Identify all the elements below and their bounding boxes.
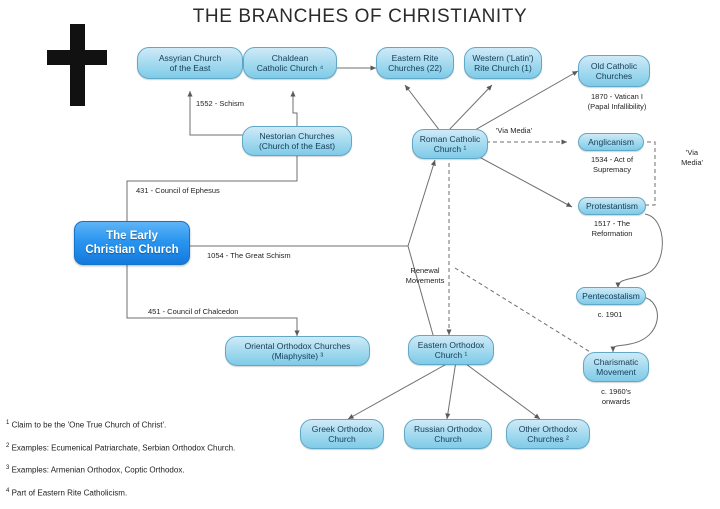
node-label-line1: Protestantism xyxy=(586,201,638,212)
node-label-line1: Roman Catholic xyxy=(420,134,480,145)
node-label-line2: of the East xyxy=(159,63,221,74)
node-protestantism[interactable]: Protestantism xyxy=(578,197,646,215)
edge-fork-eastern-orthodox xyxy=(408,246,435,342)
node-label-line1: Eastern Rite xyxy=(388,53,442,64)
footnote-marker: 3 xyxy=(6,465,9,471)
edge-early-oriental xyxy=(127,265,297,336)
label-line1: 'Via xyxy=(686,148,698,157)
edge-eo-greek xyxy=(348,361,452,419)
footnote-marker: 4 xyxy=(6,488,9,494)
edge-pentecostalism-charismatic xyxy=(613,297,657,352)
label-line2: Media' xyxy=(681,158,703,167)
label-1054-great-schism: 1054 - The Great Schism xyxy=(207,251,291,261)
node-oriental-orthodox-churches[interactable]: Oriental Orthodox Churches (Miaphysite) … xyxy=(225,336,370,366)
footnote-marker: 2 xyxy=(6,443,9,449)
node-label-line1: Nestorian Churches xyxy=(259,131,335,142)
label-line2: Reformation xyxy=(592,229,633,238)
edge-roman-old-catholic xyxy=(468,71,578,134)
node-label-line2: Catholic Church ⁴ xyxy=(257,63,324,74)
label-431-council-of-ephesus: 431 - Council of Ephesus xyxy=(136,186,220,196)
node-label-line2: Churches (22) xyxy=(388,63,442,74)
node-label-line1: Oriental Orthodox Churches xyxy=(245,341,351,352)
edge-eo-other xyxy=(462,361,540,419)
label-line1: Renewal xyxy=(410,266,439,275)
node-label-line2: Church ¹ xyxy=(418,350,485,361)
label-line2: onwards xyxy=(602,397,630,406)
edge-nestorian-chaldean xyxy=(293,91,297,126)
label-pentecostalism-date: c. 1901 xyxy=(566,310,654,320)
label-1517-reformation: 1517 - The Reformation xyxy=(568,219,656,238)
node-other-orthodox-churches[interactable]: Other Orthodox Churches ² xyxy=(506,419,590,449)
node-label-line1: Chaldean xyxy=(257,53,324,64)
node-the-early-christian-church[interactable]: The Early Christian Church xyxy=(74,221,190,265)
label-line1: c. 1960's xyxy=(601,387,631,396)
label-via-media-right: 'Via Media' xyxy=(672,148,712,167)
footnote-marker: 1 xyxy=(6,420,9,426)
label-via-media-left: 'Via Media' xyxy=(496,126,532,136)
footnote-3: 3 Examples: Armenian Orthodox, Coptic Or… xyxy=(6,463,436,476)
footnote-2: 2 Examples: Ecumenical Patriarchate, Ser… xyxy=(6,441,436,454)
node-label-line2: Churches xyxy=(591,71,637,82)
footnote-1: 1 Claim to be the 'One True Church of Ch… xyxy=(6,418,436,431)
label-charismatic-date: c. 1960's onwards xyxy=(572,387,660,406)
footnote-text: Examples: Ecumenical Patriarchate, Serbi… xyxy=(12,443,236,452)
edge-fork-roman xyxy=(408,160,435,246)
edge-roman-protestantism xyxy=(470,152,572,207)
node-charismatic-movement[interactable]: Charismatic Movement xyxy=(583,352,649,382)
label-1870-vatican-i: 1870 - Vatican I (Papal Infallibility) xyxy=(574,92,660,111)
label-1534-act-of-supremacy: 1534 - Act of Supremacy xyxy=(568,155,656,174)
node-label-line2: Church ¹ xyxy=(420,144,480,155)
diagram-canvas: THE BRANCHES OF CHRISTIANITY xyxy=(0,0,720,509)
node-roman-catholic-church[interactable]: Roman Catholic Church ¹ xyxy=(412,129,488,159)
node-label-line1: Assyrian Church xyxy=(159,53,221,64)
label-1552-schism: 1552 - Schism xyxy=(196,99,244,109)
node-old-catholic-churches[interactable]: Old Catholic Churches xyxy=(578,55,650,87)
node-label-line1: Charismatic xyxy=(594,357,639,368)
node-label-line1: Other Orthodox xyxy=(519,424,578,435)
node-eastern-rite-churches[interactable]: Eastern Rite Churches (22) xyxy=(376,47,454,79)
node-label-line2: Rite Church (1) xyxy=(472,63,533,74)
node-label-line1: The Early xyxy=(85,229,178,243)
label-line1: 1870 - Vatican I xyxy=(591,92,643,101)
node-label-line1: Western ('Latin') xyxy=(472,53,533,64)
edge-eo-russian xyxy=(447,361,456,419)
footnotes: 1 Claim to be the 'One True Church of Ch… xyxy=(6,418,436,509)
node-label-line2: Christian Church xyxy=(85,243,178,257)
node-nestorian-churches[interactable]: Nestorian Churches (Church of the East) xyxy=(242,126,352,156)
label-line1: 1534 - Act of xyxy=(591,155,633,164)
footnote-4: 4 Part of Eastern Rite Catholicism. xyxy=(6,486,436,499)
node-chaldean-catholic-church[interactable]: Chaldean Catholic Church ⁴ xyxy=(243,47,337,79)
node-label-line2: Churches ² xyxy=(519,434,578,445)
footnote-text: Claim to be the 'One True Church of Chri… xyxy=(12,421,167,430)
node-label-line2: (Miaphysite) ³ xyxy=(245,351,351,362)
node-label-line1: Eastern Orthodox xyxy=(418,340,485,351)
label-451-council-of-chalcedon: 451 - Council of Chalcedon xyxy=(148,307,238,317)
node-label-line2: (Church of the East) xyxy=(259,141,335,152)
node-assyrian-church-of-the-east[interactable]: Assyrian Church of the East xyxy=(137,47,243,79)
node-western-latin-rite-church[interactable]: Western ('Latin') Rite Church (1) xyxy=(464,47,542,79)
label-line2: (Papal Infallibility) xyxy=(588,102,647,111)
label-line2: Supremacy xyxy=(593,165,631,174)
footnote-text: Part of Eastern Rite Catholicism. xyxy=(12,489,128,498)
node-label-line1: Pentecostalism xyxy=(582,291,640,302)
node-label-line2: Movement xyxy=(594,367,639,378)
footnote-text: Examples: Armenian Orthodox, Coptic Orth… xyxy=(12,466,185,475)
edge-roman-eastern-rite xyxy=(405,85,440,131)
node-anglicanism[interactable]: Anglicanism xyxy=(578,133,644,151)
node-label-line1: Old Catholic xyxy=(591,61,637,72)
node-label-line1: Anglicanism xyxy=(588,137,634,148)
label-line1: 1517 - The xyxy=(594,219,630,228)
label-renewal-movements: Renewal Movements xyxy=(396,266,454,285)
node-pentecostalism[interactable]: Pentecostalism xyxy=(576,287,646,305)
node-eastern-orthodox-church[interactable]: Eastern Orthodox Church ¹ xyxy=(408,335,494,365)
label-line2: Movements xyxy=(406,276,445,285)
